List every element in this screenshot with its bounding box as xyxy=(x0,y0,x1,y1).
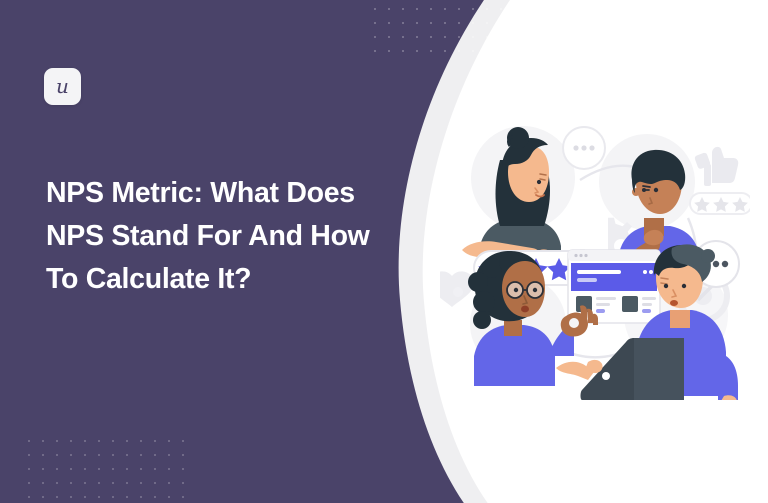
customer-feedback-illustration xyxy=(440,100,750,400)
dot-grid-bottom-left xyxy=(22,434,190,503)
logo-glyph: u xyxy=(56,76,69,96)
dot-grid-top-right xyxy=(368,2,628,54)
decorative-dot xyxy=(453,287,463,297)
cover-card: u NPS Metric: What Does NPS Stand For An… xyxy=(0,0,768,503)
three-grey-stars xyxy=(690,193,750,214)
thumbs-up-icon xyxy=(694,147,738,186)
userpilot-logo[interactable]: u xyxy=(44,68,81,105)
speech-bubble-ellipsis-top xyxy=(563,127,605,169)
page-title: NPS Metric: What Does NPS Stand For And … xyxy=(46,172,376,301)
